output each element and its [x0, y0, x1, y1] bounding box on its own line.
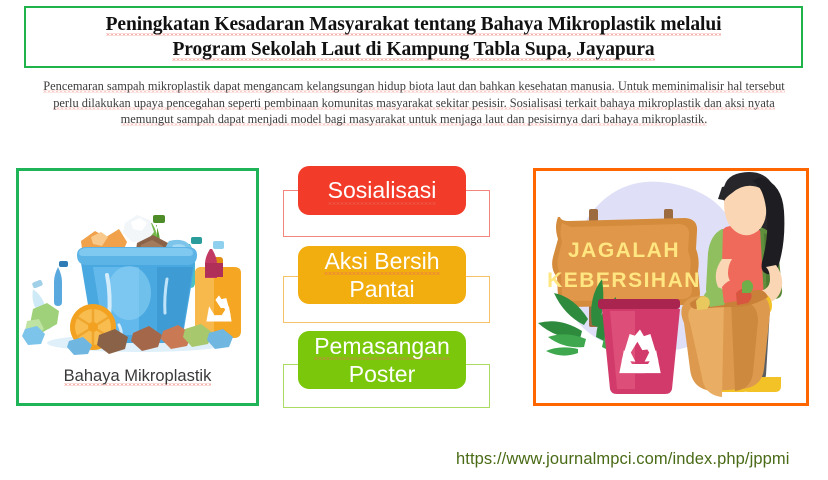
flow-box-3-label-line2: Poster — [349, 361, 415, 387]
left-caption-text: Bahaya Mikroplastik — [64, 367, 212, 386]
flow-box-pemasangan-poster[interactable]: Pemasangan Poster — [298, 331, 466, 389]
svg-text:JAGALAH: JAGALAH — [568, 239, 680, 262]
title-line-1: Peningkatan Kesadaran Masyarakat tentang… — [106, 14, 722, 36]
abstract-paragraph: Pencemaran sampah mikroplastik dapat men… — [38, 78, 790, 128]
left-image-card: Bahaya Mikroplastik — [16, 168, 259, 406]
woman-collecting-trash-icon: JAGALAH KEBERSIHAN — [536, 171, 806, 403]
flow-box-sosialisasi[interactable]: Sosialisasi — [298, 166, 466, 215]
abstract-text: Pencemaran sampah mikroplastik dapat men… — [43, 79, 785, 126]
page-title: Peningkatan Kesadaran Masyarakat tentang… — [100, 12, 728, 62]
right-image-card: JAGALAH KEBERSIHAN — [533, 168, 809, 406]
flow-box-aksi-bersih-pantai[interactable]: Aksi Bersih Pantai — [298, 246, 466, 304]
trash-bin-plastic-waste-icon — [19, 175, 256, 360]
flow-box-2-label-line2: Pantai — [349, 276, 414, 302]
title-box: Peningkatan Kesadaran Masyarakat tentang… — [24, 6, 803, 68]
journal-url[interactable]: https://www.journalmpci.com/index.php/jp… — [456, 450, 790, 469]
title-line-2: Program Sekolah Laut di Kampung Tabla Su… — [172, 39, 654, 61]
flow-box-2-label-line1: Aksi Bersih — [324, 248, 439, 275]
flow-box-1-label: Sosialisasi — [328, 176, 437, 205]
flow-box-3-label-line1: Pemasangan — [314, 333, 450, 360]
svg-text:KEBERSIHAN: KEBERSIHAN — [547, 269, 701, 292]
left-panel-caption: Bahaya Mikroplastik — [19, 367, 256, 386]
